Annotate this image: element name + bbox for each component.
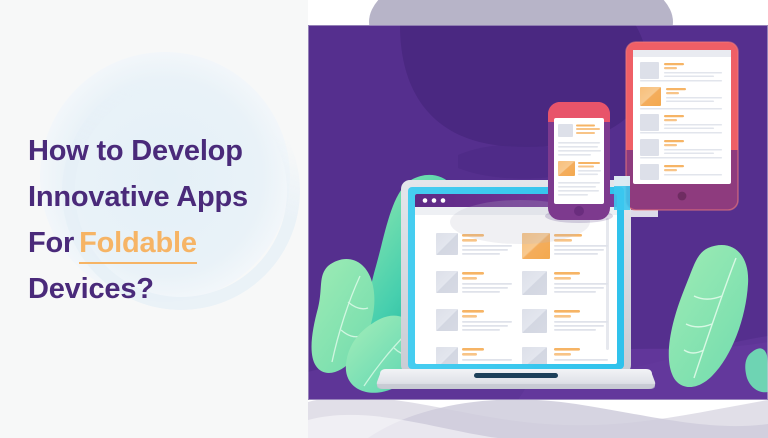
- list-thumbnail-orange: [558, 161, 575, 176]
- devices-illustration: [308, 0, 768, 438]
- purple-backdrop: [308, 0, 768, 400]
- headline-line-2-text: Innovative Apps: [28, 181, 248, 213]
- headline-accent-word: Foldable: [79, 227, 197, 264]
- card-thumbnail: [436, 233, 458, 255]
- card-thumbnail: [522, 309, 547, 333]
- headline-line-1: How to Develop: [28, 128, 298, 174]
- laptop-trackpad[interactable]: [474, 373, 558, 378]
- card-thumbnail: [522, 271, 547, 295]
- card-thumbnail: [436, 271, 458, 293]
- list-thumbnail-orange: [640, 87, 661, 106]
- card-thumbnail: [436, 309, 458, 331]
- device-laptop: [377, 180, 655, 389]
- page-title: How to Develop Innovative Apps ForFoldab…: [28, 128, 298, 312]
- headline-line-4: Devices?: [28, 266, 298, 312]
- list-thumbnail: [640, 62, 659, 79]
- illustration-panel: [308, 0, 768, 438]
- headline-line-4-text: Devices?: [28, 273, 154, 305]
- headline-line-2: Innovative Apps: [28, 174, 298, 220]
- headline-panel: How to Develop Innovative Apps ForFoldab…: [0, 0, 308, 438]
- banner-canvas: How to Develop Innovative Apps ForFoldab…: [0, 0, 768, 438]
- device-tablet: [626, 42, 738, 210]
- list-thumbnail: [640, 139, 659, 156]
- headline-line-3: ForFoldable: [28, 220, 298, 266]
- phone-home-button-icon[interactable]: [574, 206, 584, 216]
- browser-window-dots[interactable]: [423, 198, 446, 203]
- headline-line-3-text: For: [28, 227, 74, 259]
- bottom-wave-blobs: [308, 397, 768, 438]
- list-thumbnail: [558, 124, 573, 137]
- headline-line-1-text: How to Develop: [28, 135, 243, 167]
- device-smartphone: [545, 102, 613, 223]
- tablet-statusbar: [633, 50, 731, 57]
- list-thumbnail: [640, 164, 659, 180]
- list-thumbnail: [640, 114, 659, 131]
- tablet-home-button-icon[interactable]: [678, 192, 687, 201]
